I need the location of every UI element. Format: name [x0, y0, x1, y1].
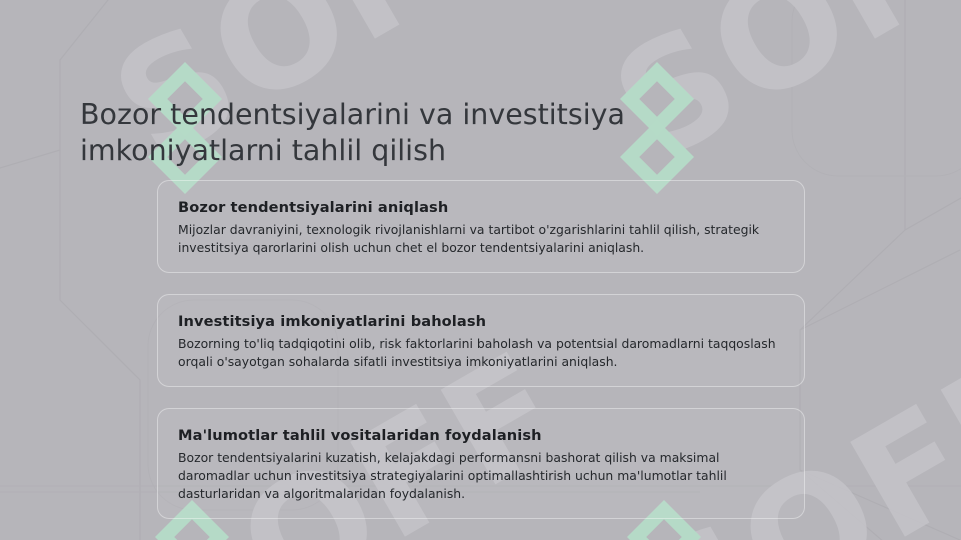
card-body: Mijozlar davraniyini, texnologik rivojla… — [178, 221, 784, 256]
card-heading: Investitsiya imkoniyatlarini baholash — [178, 313, 784, 330]
list-item[interactable]: Bozor tendentsiyalarini aniqlash Mijozla… — [157, 180, 805, 273]
list-item[interactable]: Ma'lumotlar tahlil vositalaridan foydala… — [157, 408, 805, 519]
card-heading: Bozor tendentsiyalarini aniqlash — [178, 199, 784, 216]
card-body: Bozor tendentsiyalarini kuzatish, kelaja… — [178, 449, 784, 502]
page-title: Bozor tendentsiyalarini va investitsiya … — [80, 97, 800, 169]
list-item[interactable]: Investitsiya imkoniyatlarini baholash Bo… — [157, 294, 805, 387]
card-list: Bozor tendentsiyalarini aniqlash Mijozla… — [157, 180, 805, 540]
presentation-slide: SOFF SOFF SOFF SOFF — [0, 0, 961, 540]
card-body: Bozorning to'liq tadqiqotini olib, risk … — [178, 335, 784, 370]
card-heading: Ma'lumotlar tahlil vositalaridan foydala… — [178, 427, 784, 444]
